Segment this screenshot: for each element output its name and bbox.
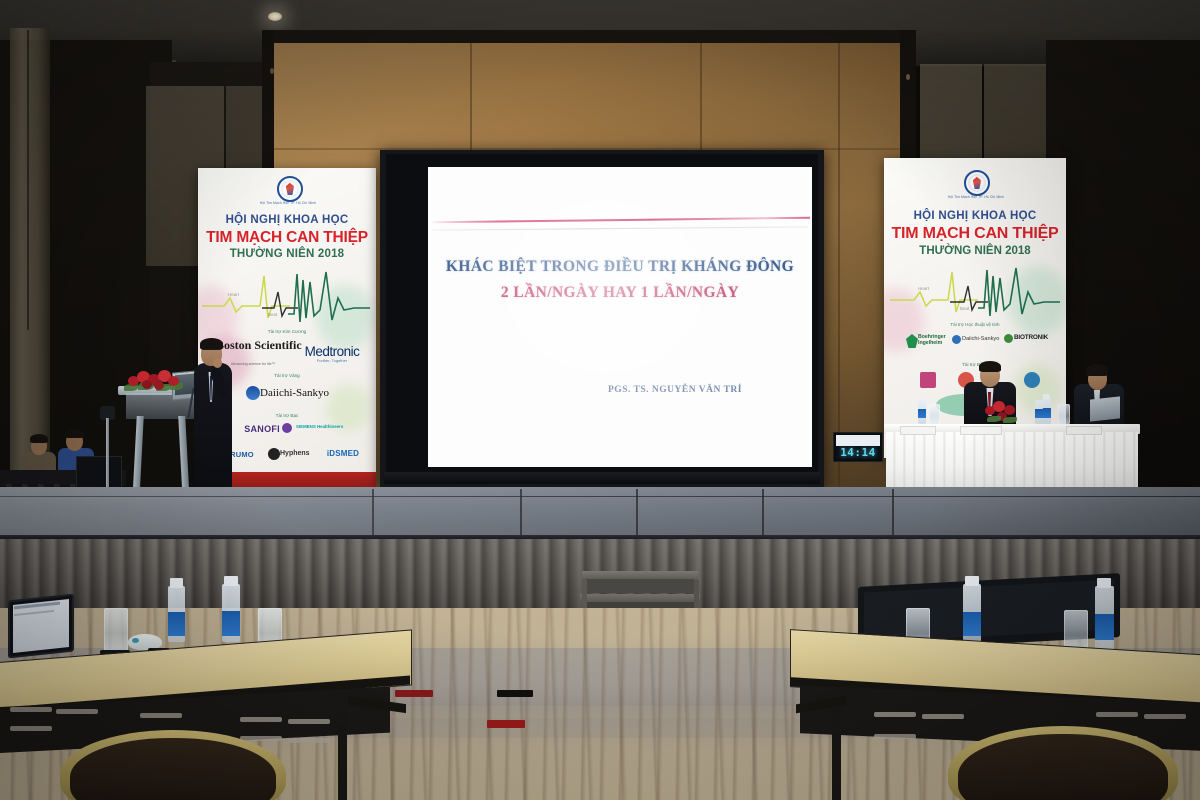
carpet-accent xyxy=(487,720,525,728)
biotronik-logo-icon xyxy=(1004,334,1013,343)
table-vent-slot xyxy=(10,707,52,712)
sponsor-idsmed: iDSMED xyxy=(318,449,368,458)
panel-table-pleats xyxy=(886,432,1138,494)
carpet-accent xyxy=(395,690,433,697)
table-vent-slot xyxy=(10,726,52,731)
ecg-waveform-graphic: Heart Beat xyxy=(890,264,1062,322)
sponsor-logo-icon xyxy=(1024,372,1040,388)
stage-deck-sheen xyxy=(0,487,1200,539)
table-leg xyxy=(832,706,841,800)
stage-step-riser xyxy=(586,579,694,593)
bottle-label xyxy=(1035,409,1043,418)
pillar-left xyxy=(10,28,50,498)
sanofi-logo-icon xyxy=(282,423,292,433)
slide-title-line-2: 2 LẦN/NGÀY HAY 1 LẦN/NGÀY xyxy=(438,284,802,302)
daiichi-logo-icon xyxy=(246,386,260,400)
dish-accent xyxy=(132,638,139,643)
bottle-label xyxy=(1095,614,1114,640)
svg-text:Beat: Beat xyxy=(960,306,970,311)
drinking-glass[interactable] xyxy=(104,608,128,654)
conference-logo-icon xyxy=(964,170,990,196)
sponsor-hyphens: Hyphens xyxy=(280,450,316,457)
bottle-label xyxy=(1042,408,1051,418)
slide-title-line-1: KHÁC BIỆT TRONG ĐIỀU TRỊ KHÁNG ĐÔNG xyxy=(438,258,802,276)
presentation-slide xyxy=(428,167,812,467)
name-card xyxy=(960,426,1002,435)
speaker-glasses xyxy=(203,349,220,354)
timer-value: 14:14 xyxy=(836,446,880,459)
svg-text:Heart: Heart xyxy=(228,292,240,297)
table-vent-slot xyxy=(1144,714,1186,719)
table-vent-slot xyxy=(288,738,330,743)
av-monitor xyxy=(76,456,122,488)
svg-text:Beat: Beat xyxy=(268,312,278,317)
bottle-cap[interactable] xyxy=(1097,578,1111,588)
bottle-label xyxy=(963,612,981,636)
name-card xyxy=(900,426,936,435)
bottle-cap[interactable] xyxy=(170,578,183,588)
countdown-timer: 14:14 xyxy=(833,432,883,462)
conference-hall-photo: Hội Tim Mạch Học TP. Hồ Chí Minh HỘI NGH… xyxy=(0,0,1200,800)
sponsor-siemens: SIEMENS Healthineers xyxy=(296,424,362,429)
table-vent-slot xyxy=(874,712,916,717)
bottle-cap xyxy=(1043,394,1050,399)
downlight-icon xyxy=(268,12,282,21)
sponsor-logo-icon xyxy=(920,372,936,388)
banner-line-1: HỘI NGHỊ KHOA HỌC xyxy=(202,214,372,226)
sponsor-biotronik: BIOTRONIK xyxy=(1014,334,1062,341)
wall-screw xyxy=(270,68,274,74)
projection-screen-base xyxy=(384,472,820,484)
pillar-seam xyxy=(27,30,29,330)
hyphens-logo-icon xyxy=(268,448,280,460)
bottle-label xyxy=(168,612,185,636)
sponsor-daiichi-sankyo: Daiichi-Sankyo xyxy=(260,387,356,399)
sponsor-tier-2-label: Tài trợ Đồng xyxy=(884,362,1066,367)
speaker-hand xyxy=(213,358,222,368)
sponsor-sanofi: SANOFI xyxy=(234,424,280,434)
table-vent-slot xyxy=(1096,712,1138,717)
bottle-cap[interactable] xyxy=(224,576,238,586)
banner-organization: Hội Tim Mạch Học TP. Hồ Chí Minh xyxy=(934,195,1018,199)
flower-arrangement xyxy=(126,368,182,392)
banner-line-3: THƯỜNG NIÊN 2018 xyxy=(202,248,372,260)
bottle-cap[interactable] xyxy=(965,576,979,586)
drinking-glass xyxy=(929,404,940,426)
table-vent-slot xyxy=(288,719,330,724)
conference-logo-icon xyxy=(277,176,303,202)
sponsor-medtronic: Medtronic xyxy=(292,344,372,359)
sponsor-tier-1-label: Tài trợ Kim Cương xyxy=(198,329,376,334)
banner-organization: Hội Tim Mạch Học TP. Hồ Chí Minh xyxy=(246,201,330,205)
daiichi-logo-icon xyxy=(952,335,961,344)
svg-text:Heart: Heart xyxy=(918,286,930,291)
sponsor-boston-scientific: Boston Scientific xyxy=(216,340,290,350)
banner-line-2: TIM MẠCH CAN THIỆP xyxy=(884,225,1066,243)
table-vent-slot xyxy=(56,709,98,714)
name-card xyxy=(1066,426,1102,435)
banner-line-2: TIM MẠCH CAN THIỆP xyxy=(198,229,376,247)
table-vent-slot xyxy=(874,734,916,739)
panel-laptop xyxy=(1090,396,1120,421)
sponsor-daiichi-sankyo: Daiichi-Sankyo xyxy=(962,336,1010,342)
table-leg xyxy=(338,712,347,800)
sponsor-tier-1-label: Tài trợ Học thuật vệ tinh xyxy=(884,322,1066,327)
wood-frame xyxy=(264,30,916,43)
table-vent-slot xyxy=(240,717,282,722)
sponsor-tagline-medtronic: Further, Together xyxy=(292,358,372,363)
slide-presenter-name: PGS. TS. NGUYỄN VĂN TRÍ xyxy=(560,385,790,395)
table-vent-slot xyxy=(922,714,964,719)
banner-line-1: HỘI NGHỊ KHOA HỌC xyxy=(888,210,1062,222)
drinking-glass xyxy=(1058,404,1070,426)
panel-flower-arrangement xyxy=(985,396,1021,424)
carpet-accent xyxy=(497,690,533,697)
wall-screw xyxy=(906,74,910,80)
bottle-label xyxy=(918,409,926,418)
banner-line-3: THƯỜNG NIÊN 2018 xyxy=(888,245,1062,257)
bottle-label xyxy=(222,611,240,636)
ecg-waveform-graphic: Heart Beat xyxy=(202,268,372,328)
table-vent-slot xyxy=(140,713,182,718)
